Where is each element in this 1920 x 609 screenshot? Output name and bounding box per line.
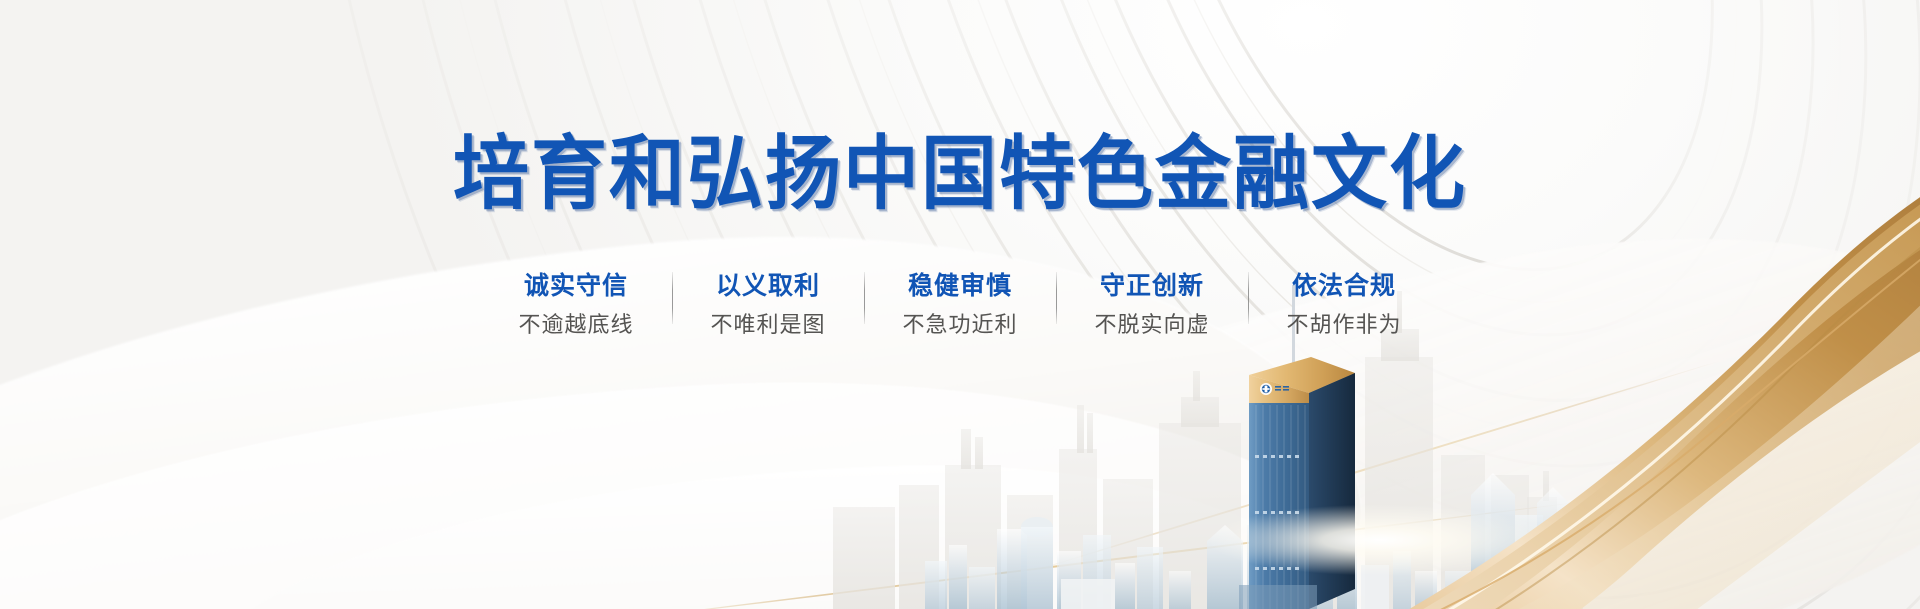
slogan-title: 以义取利: [716, 270, 820, 302]
slogan-item-5: 依法合规 不胡作非为: [1279, 270, 1409, 339]
slogan-subtitle: 不逾越底线: [518, 311, 633, 339]
slogan-subtitle: 不脱实向虚: [1094, 311, 1209, 339]
slogan-title: 依法合规: [1292, 270, 1396, 302]
page-title: 培育和弘扬中国特色金融文化: [0, 130, 1920, 219]
slogan-divider-3: [1025, 272, 1087, 328]
slogan-divider-2: [833, 272, 895, 328]
slogan-subtitle: 不胡作非为: [1286, 311, 1401, 339]
slogan-subtitle: 不急功近利: [902, 311, 1017, 339]
slogan-item-4: 守正创新 不脱实向虚: [1087, 270, 1217, 339]
slogan-divider-1: [641, 272, 703, 328]
slogan-title: 稳健审慎: [908, 270, 1012, 302]
finance-culture-banner: 培育和弘扬中国特色金融文化 诚实守信 不逾越底线 以义取利 不唯利是图 稳健审慎…: [0, 0, 1920, 609]
slogan-item-2: 以义取利 不唯利是图: [703, 270, 833, 339]
slogan-title: 诚实守信: [524, 270, 628, 302]
slogan-title: 守正创新: [1100, 270, 1204, 302]
slogan-divider-4: [1217, 272, 1279, 328]
slogan-item-3: 稳健审慎 不急功近利: [895, 270, 1025, 339]
banner-content: 培育和弘扬中国特色金融文化 诚实守信 不逾越底线 以义取利 不唯利是图 稳健审慎…: [0, 0, 1920, 609]
slogan-subtitle: 不唯利是图: [710, 311, 825, 339]
slogan-row: 诚实守信 不逾越底线 以义取利 不唯利是图 稳健审慎 不急功近利 守正创新 不脱…: [0, 270, 1920, 339]
slogan-item-1: 诚实守信 不逾越底线: [511, 270, 641, 339]
